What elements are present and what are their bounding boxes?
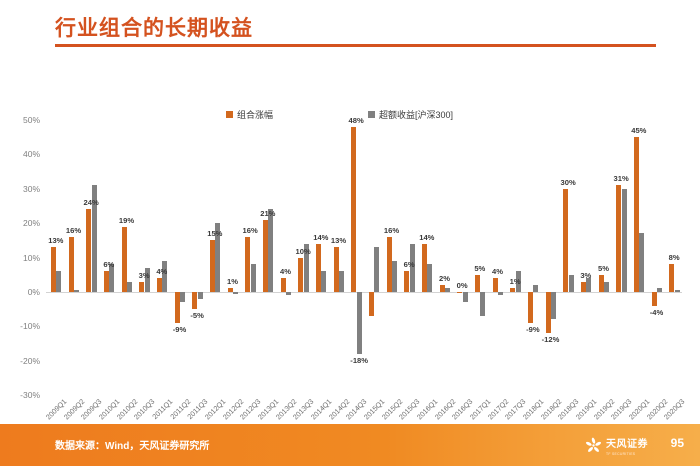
bar-value-label: 4% [280,267,291,276]
bar-value-label: 4% [492,267,503,276]
bar-excess-return [180,292,185,302]
bar-group: 2% [440,120,451,395]
bar-group: 14% [316,120,327,395]
bar-portfolio-return [298,258,303,292]
y-axis-tick: 30% [23,184,40,194]
bar-excess-return [569,275,574,292]
bar-excess-return [427,264,432,292]
bar-group: 30% [563,120,574,395]
brand-subtitle: TF SECURITIES [606,452,648,456]
bar-portfolio-return [457,292,462,293]
bar-portfolio-return [228,288,233,291]
bar-excess-return [357,292,362,354]
bar-portfolio-return [599,275,604,292]
bar-value-label: 5% [598,264,609,273]
bar-excess-return [533,285,538,292]
bar-portfolio-return [616,185,621,292]
bar-excess-return [551,292,556,320]
bar-value-label: -9% [526,325,540,334]
bar-portfolio-return [404,271,409,292]
bar-chart: 50%40%30%20%10%0%-10%-20%-30% 13%16%24%6… [0,52,700,412]
bar-value-label: 13% [331,236,346,245]
bar-group: 48%-18% [351,120,362,395]
bar-value-label: -18% [350,356,368,365]
bar-value-label: 14% [419,233,434,242]
bar-portfolio-return [422,244,427,292]
brand-name: 天风证券 [606,439,648,450]
bar-value-label: -4% [650,308,664,317]
bar-group: 5% [599,120,610,395]
bar-group: 4% [157,120,168,395]
bar-portfolio-return [139,282,144,292]
y-axis-tick: -10% [20,321,40,331]
bar-excess-return [339,271,344,292]
bar-value-label: 21% [260,209,275,218]
bar-value-label: 16% [66,226,81,235]
bar-portfolio-return [245,237,250,292]
bar-excess-return [74,290,79,292]
bar-portfolio-return [210,240,215,292]
bar-group: 31% [616,120,627,395]
bar-portfolio-return [51,247,56,292]
bar-value-label: 2% [439,274,450,283]
y-axis-tick: 40% [23,149,40,159]
bar-value-label: 6% [103,260,114,269]
bar-group: 16% [387,120,398,395]
bar-group: -12% [546,120,557,395]
bar-excess-return [392,261,397,292]
bar-excess-return [639,233,644,291]
bar-portfolio-return [334,247,339,292]
bar-group: 5% [475,120,486,395]
bar-excess-return [622,189,627,292]
bar-excess-return [498,292,503,295]
bar-value-label: 45% [631,126,646,135]
bar-excess-return [463,292,468,302]
bar-value-label: 10% [296,247,311,256]
brand-text-wrap: 天风证券 TF SECURITIES [606,434,648,456]
bar-value-label: 6% [404,260,415,269]
bar-value-label: 19% [119,216,134,225]
bar-excess-return [374,247,379,292]
bar-excess-return [586,278,591,292]
bar-group: 24% [86,120,97,395]
brand-logo: 天风证券 TF SECURITIES [585,434,648,456]
bar-portfolio-return [440,285,445,292]
bar-group: 15% [210,120,221,395]
bar-value-label: 8% [669,253,680,262]
bar-portfolio-return [581,282,586,292]
bar-group: 3% [581,120,592,395]
y-axis-tick: 0% [28,287,40,297]
slide: 行业组合的长期收益 组合涨幅超额收益[沪深300] 50%40%30%20%10… [0,0,700,466]
bar-group: 13% [51,120,62,395]
bar-group: 1% [228,120,239,395]
bar-portfolio-return [69,237,74,292]
bar-excess-return [268,209,273,292]
bar-group: 3% [139,120,150,395]
bar-value-label: 30% [561,178,576,187]
bar-group: 14% [422,120,433,395]
y-axis-tick: 10% [23,253,40,263]
bar-value-label: -5% [190,311,204,320]
bar-portfolio-return [634,137,639,292]
bar-group: -9% [175,120,186,395]
bar-excess-return [480,292,485,316]
bar-excess-return [251,264,256,292]
bar-excess-return [127,282,132,292]
pinwheel-icon [585,437,602,454]
bar-excess-return [657,288,662,291]
bar-value-label: 48% [349,116,364,125]
bar-group: 13% [334,120,345,395]
bar-portfolio-return [475,275,480,292]
bar-value-label: 0% [457,281,468,290]
bar-portfolio-return [369,292,374,316]
bar-group: 0% [457,120,468,395]
y-axis-labels: 50%40%30%20%10%0%-10%-20%-30% [0,120,44,395]
data-source-text: 数据来源：Wind，天风证券研究所 [55,437,209,452]
bar-group: 4% [281,120,292,395]
bar-value-label: 1% [227,277,238,286]
bar-value-label: 14% [313,233,328,242]
y-axis-tick: 50% [23,115,40,125]
bar-excess-return [233,292,238,294]
bar-group: 1% [510,120,521,395]
bar-value-label: 1% [510,277,521,286]
y-axis-tick: -30% [20,390,40,400]
y-axis-tick: -20% [20,356,40,366]
page-number: 95 [671,436,684,450]
bar-group: 16% [69,120,80,395]
bar-portfolio-return [546,292,551,333]
bar-value-label: 24% [84,198,99,207]
plot-area: 13%16%24%6%19%3%4%-9%-5%15%1%16%21%4%10%… [46,120,682,395]
bar-value-label: 5% [474,264,485,273]
bar-excess-return [162,261,167,292]
slide-header: 行业组合的长期收益 [0,0,700,52]
bar-group: 16% [245,120,256,395]
bar-portfolio-return [281,278,286,292]
bar-value-label: 16% [243,226,258,235]
bar-value-label: -9% [173,325,187,334]
bar-value-label: 15% [207,229,222,238]
bar-excess-return [675,290,680,292]
bar-value-label: 4% [156,267,167,276]
bar-portfolio-return [493,278,498,292]
bar-group: -9% [528,120,539,395]
bar-portfolio-return [263,220,268,292]
bar-portfolio-return [387,237,392,292]
bar-portfolio-return [652,292,657,306]
bar-group: -4% [652,120,663,395]
bar-value-label: 31% [614,174,629,183]
bar-group: 6% [104,120,115,395]
bar-group [369,120,380,395]
bar-group: 19% [122,120,133,395]
bar-portfolio-return [351,127,356,292]
bar-portfolio-return [104,271,109,292]
bar-group: 4% [493,120,504,395]
bar-portfolio-return [563,189,568,292]
bar-excess-return [321,271,326,292]
bar-group: 21% [263,120,274,395]
bar-group: 45% [634,120,645,395]
bar-portfolio-return [669,264,674,292]
bar-group: 8% [669,120,680,395]
bar-portfolio-return [528,292,533,323]
bar-group: 10% [298,120,309,395]
bar-portfolio-return [86,209,91,292]
bar-portfolio-return [122,227,127,292]
page-title: 行业组合的长期收益 [55,12,253,42]
y-axis-tick: 20% [23,218,40,228]
bar-excess-return [286,292,291,295]
slide-footer: 数据来源：Wind，天风证券研究所 天风证券 TF SECURITIES 95 [0,424,700,466]
bar-excess-return [604,282,609,292]
bar-excess-return [445,288,450,291]
bar-portfolio-return [510,288,515,291]
bar-value-label: -12% [542,335,560,344]
bar-excess-return [56,271,61,292]
bar-portfolio-return [192,292,197,309]
bar-value-label: 13% [48,236,63,245]
bar-portfolio-return [175,292,180,323]
bar-value-label: 3% [580,271,591,280]
bar-excess-return [198,292,203,299]
bar-portfolio-return [316,244,321,292]
bar-portfolio-return [157,278,162,292]
bar-group: 6% [404,120,415,395]
title-underline [55,44,656,47]
bar-value-label: 3% [139,271,150,280]
bar-value-label: 16% [384,226,399,235]
bar-group: -5% [192,120,203,395]
